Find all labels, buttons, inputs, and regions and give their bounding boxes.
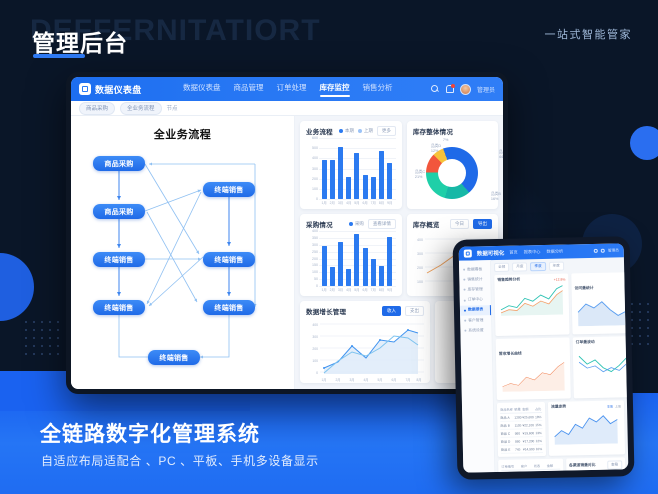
svg-text:100: 100 <box>312 359 318 363</box>
tablet-body: 数据看板销售统计库存管理订单中心数据报表客户管理系统设置 全部月度季度年度 销售… <box>459 257 628 472</box>
footer-title: 全链路数字化管理系统 <box>40 418 260 448</box>
table-row[interactable]: NO.10231张先生已完成¥1,280 <box>501 469 560 472</box>
tablet-card-visits: 访问量统计 <box>571 272 628 335</box>
tablet-card-traffic: 流量走势 本周 上周 <box>548 400 625 456</box>
bar-chart-plot: 60050040030020010001月2月3月4月5月6月7月8月9月 <box>306 138 396 208</box>
tablet-tab[interactable]: 全部 <box>494 263 509 272</box>
tablet-nav-analysis[interactable]: 数据分析 <box>546 249 563 255</box>
svg-text:400: 400 <box>417 238 423 242</box>
donut-label: 品类B16% <box>491 192 501 202</box>
more-button[interactable]: 更多 <box>377 126 396 136</box>
tablet-tab[interactable]: 年度 <box>549 262 564 271</box>
bar <box>322 160 327 199</box>
decor-dot-grid-left <box>22 318 64 356</box>
donut-label: 品类A44% <box>499 150 503 160</box>
bar <box>330 267 335 287</box>
line-chart-plot <box>497 283 566 316</box>
bar <box>371 259 376 286</box>
flow-node[interactable]: 终端销售 <box>148 350 200 365</box>
legend-income[interactable]: 收入 <box>382 306 401 316</box>
notification-badge <box>451 84 455 88</box>
chart-row-1: 业务流程 本期 上期 更多 60050040030020010001月2月3月4… <box>300 121 498 209</box>
line-chart-plot <box>499 359 568 392</box>
table-cell: 13% <box>535 429 542 437</box>
bar <box>596 471 601 472</box>
card-header: 库存整体情况 <box>413 126 492 136</box>
export-button[interactable]: 导出 <box>473 219 492 229</box>
bar <box>379 151 384 199</box>
tablet-device: 数据可视化 首页 报表中心 数据分析 管理员 数据看板销售统计库存管理订单中心数… <box>453 236 635 480</box>
column-header: 占比 <box>535 405 542 413</box>
nav-item-dashboard[interactable]: 数据仪表盘 <box>183 82 221 97</box>
bar <box>354 153 359 199</box>
tablet-card-orders: 订单量波动 <box>573 336 629 399</box>
bar <box>363 248 368 286</box>
footer-subtitle: 自适应布局适配合 、PC 、平板、手机多设备显示 <box>41 452 319 469</box>
svg-text:1月: 1月 <box>322 378 327 382</box>
legend-item: 本期 <box>339 128 354 134</box>
tablet-sidebar-label: 系统设置 <box>468 328 483 333</box>
dashboard-body: 全业务流程 <box>71 116 503 389</box>
tablet-sidebar[interactable]: 数据看板销售统计库存管理订单中心数据报表客户管理系统设置 <box>459 260 495 473</box>
card-header: 采购情况 采购 查看详情 <box>306 219 396 229</box>
bar-series <box>320 139 394 199</box>
table-cell: NO.10231 <box>501 470 521 472</box>
flow-diagram-title: 全业务流程 <box>71 126 294 142</box>
table-cell: 12% <box>536 437 543 445</box>
card-header: 数据增长管理 收入 支出 <box>306 306 424 316</box>
card-title: 采购情况 <box>306 219 333 229</box>
donut-label: 7% <box>443 138 449 143</box>
table-cell: 商品 E <box>501 445 515 453</box>
svg-text:200: 200 <box>312 347 318 351</box>
table-cell: 张先生 <box>521 470 534 472</box>
bar <box>354 234 359 286</box>
y-axis: 6005004003002001000 <box>306 138 319 199</box>
flow-node[interactable]: 终端销售 <box>93 252 145 267</box>
card-growth-line: 数据增长管理 收入 支出 <box>300 301 430 383</box>
legend-expense[interactable]: 支出 <box>405 306 424 316</box>
svg-text:3月: 3月 <box>350 378 355 382</box>
header-subtitle: 一站式智能管家 <box>545 26 633 42</box>
table-cell: 已完成 <box>534 469 547 472</box>
svg-text:300: 300 <box>417 252 423 256</box>
tablet-bottom-row: 订单编号客户状态金额NO.10231张先生已完成¥1,280NO.10232李女… <box>498 457 626 472</box>
tablet-nav-home[interactable]: 首页 <box>509 250 518 256</box>
donut-label: 品类D12% <box>431 144 441 154</box>
flow-diagram-panel: 全业务流程 <box>71 116 295 389</box>
bar <box>330 160 335 199</box>
svg-text:300: 300 <box>312 335 318 339</box>
today-button[interactable]: 今日 <box>450 219 469 229</box>
table-row[interactable]: 商品 E745¥14,90010% <box>501 445 543 454</box>
flow-node[interactable]: 终端销售 <box>203 182 255 197</box>
tablet-sidebar-label: 数据报表 <box>468 308 483 313</box>
svg-text:8月: 8月 <box>417 378 422 382</box>
tablet-tab[interactable]: 月度 <box>512 262 527 271</box>
table-cell: ¥25,600 <box>522 413 535 421</box>
username-label: 管理员 <box>477 85 495 94</box>
flow-node[interactable]: 商品采购 <box>93 156 145 171</box>
bar <box>379 266 384 286</box>
x-axis: 1月2月3月4月5月6月7月8月9月 <box>320 287 394 295</box>
tablet-username: 管理员 <box>608 248 619 253</box>
growth-badge: +12.8% <box>554 278 566 282</box>
card-header: 库存概览 今日 导出 <box>413 219 492 229</box>
subbar-note: 节点 <box>167 104 178 112</box>
dashboard-topbar-actions: 管理员 <box>431 84 495 95</box>
flow-node[interactable]: 终端销售 <box>203 252 255 267</box>
donut-chart: 品类A44%品类B16%品类C21%品类D12%7% <box>413 138 492 206</box>
search-icon[interactable] <box>594 249 598 253</box>
y-axis: 400350300250200150100500 <box>306 231 319 286</box>
nav-item-inventory[interactable]: 库存监控 <box>320 82 350 97</box>
x-axis: 1月2月3月4月5月6月7月8月9月 <box>320 200 394 208</box>
data-table: 订单编号客户状态金额NO.10231张先生已完成¥1,280NO.10232李女… <box>501 462 561 472</box>
laptop-device: 数据仪表盘 数据仪表盘 商品管理 订单处理 库存监控 销售分析 管理员 商品采 <box>66 72 508 394</box>
line-chart-plot: 400 300 200 100 0 <box>306 318 424 382</box>
svg-text:4月: 4月 <box>364 378 369 382</box>
card-business-flow-bar: 业务流程 本期 上期 更多 60050040030020010001月2月3月4… <box>300 121 402 209</box>
svg-text:2月: 2月 <box>336 378 341 382</box>
tablet-sidebar-item[interactable]: 数据看板 <box>459 264 490 275</box>
chart-legend: 本周 上周 <box>607 404 621 408</box>
card-title: 流量走势 <box>551 405 566 410</box>
legend-item: 上期 <box>358 128 373 134</box>
bell-icon[interactable] <box>445 85 454 94</box>
card-inventory-donut: 库存整体情况 品类A44%品类B16%品类C21%品类D12%7% <box>407 121 498 209</box>
tablet-sidebar-item[interactable]: 客户管理 <box>460 315 491 326</box>
area-chart-plot <box>551 409 622 444</box>
bar <box>338 242 343 286</box>
tablet-sidebar-item[interactable]: 数据报表 <box>460 305 491 316</box>
bar <box>322 246 327 286</box>
page-title: 管理后台 <box>32 24 128 58</box>
dashboard-topbar: 数据仪表盘 数据仪表盘 商品管理 订单处理 库存监控 销售分析 管理员 <box>71 77 503 101</box>
tablet-screen: 数据可视化 首页 报表中心 数据分析 管理员 数据看板销售统计库存管理订单中心数… <box>459 243 629 472</box>
svg-text:0: 0 <box>316 371 318 375</box>
legend-item: 采购 <box>349 221 364 227</box>
chart-legend: 收入 支出 <box>382 306 424 316</box>
tablet-nav-reports[interactable]: 报表中心 <box>524 249 541 255</box>
table-cell: ¥1,280 <box>547 469 560 472</box>
table-cell: ¥22,100 <box>522 421 535 429</box>
line-chart-plot <box>576 345 629 378</box>
bar-chart-plot: 4003503002502001501005001月2月3月4月5月6月7月8月… <box>306 231 396 295</box>
tablet-sidebar-item[interactable]: 系统设置 <box>460 325 491 336</box>
svg-text:200: 200 <box>417 266 423 270</box>
donut-ring <box>426 147 478 199</box>
tablet-tab[interactable]: 季度 <box>530 262 545 271</box>
dashboard-subbar: 商品采购 全业务流程 节点 <box>71 101 503 116</box>
card-header: 业务流程 本期 上期 更多 <box>306 126 396 136</box>
bar <box>363 175 368 199</box>
detail-button[interactable]: 查看详情 <box>368 219 396 229</box>
filter-chip-procurement[interactable]: 商品采购 <box>79 102 115 115</box>
chart-legend: 本期 上期 更多 <box>339 126 396 136</box>
tablet-sidebar-label: 客户管理 <box>468 318 483 323</box>
tablet-sidebar-label: 库存管理 <box>468 287 483 292</box>
search-icon[interactable] <box>431 85 439 93</box>
decor-circle-right <box>630 126 658 160</box>
tablet-nav[interactable]: 首页 报表中心 数据分析 <box>509 248 589 256</box>
table-cell: 860 <box>515 437 523 445</box>
table-cell: 980 <box>515 429 523 437</box>
chart-actions: 今日 导出 <box>450 219 492 229</box>
card-title: 库存整体情况 <box>413 126 453 136</box>
dashboard-screen: 数据仪表盘 数据仪表盘 商品管理 订单处理 库存监控 销售分析 管理员 商品采 <box>71 77 503 389</box>
table-cell: ¥14,900 <box>523 445 536 453</box>
bar-series <box>320 232 394 286</box>
table-cell: 18% <box>535 413 542 421</box>
nav-item-orders[interactable]: 订单处理 <box>277 82 307 97</box>
table-cell: 1280 <box>514 413 522 421</box>
bar <box>387 237 392 286</box>
bar <box>346 269 351 286</box>
nav-item-sales[interactable]: 销售分析 <box>363 82 393 97</box>
tablet-main: 全部月度季度年度 销售趋势分析 +12.8% <box>491 257 628 472</box>
svg-text:7月: 7月 <box>406 378 411 382</box>
donut-label: 品类C21% <box>415 170 425 180</box>
svg-text:100: 100 <box>417 280 423 284</box>
table-cell: 745 <box>515 445 523 453</box>
dashboard-logo-icon <box>79 83 91 95</box>
title-underline <box>33 54 85 58</box>
brand: 数据仪表盘 <box>79 83 183 96</box>
chart-legend: 采购 查看详情 <box>349 219 396 229</box>
card-title: 营收增长曲线 <box>499 351 522 355</box>
tablet-brand-name: 数据可视化 <box>477 249 505 258</box>
table-cell: ¥19,600 <box>523 429 536 437</box>
view-button[interactable]: 查看 <box>607 460 622 469</box>
bar-chart-plot <box>579 469 623 472</box>
tablet-table-b: 订单编号客户状态金额NO.10231张先生已完成¥1,280NO.10232李女… <box>498 459 564 472</box>
filter-chip-full-flow[interactable]: 全业务流程 <box>120 102 162 115</box>
card-title: 访问量统计 <box>575 286 594 290</box>
tablet-tab-bar[interactable]: 全部月度季度年度 <box>494 260 621 272</box>
svg-text:400: 400 <box>312 323 318 327</box>
bar <box>387 163 392 199</box>
area-chart-plot <box>575 293 629 326</box>
tablet-logo-icon <box>464 249 472 257</box>
card-procurement-bar: 采购情况 采购 查看详情 4003503002502001501005001月2… <box>300 214 402 296</box>
card-title: 各渠道销量对比 <box>569 462 596 468</box>
tablet-sidebar-item[interactable]: 销售统计 <box>459 274 490 285</box>
tablet-card-sales-trend: 销售趋势分析 +12.8% <box>494 273 569 336</box>
tablet-sidebar-item[interactable]: 库存管理 <box>459 284 490 295</box>
card-title: 库存概览 <box>413 219 440 229</box>
tablet-card-channel-bars: 各渠道销量对比 查看 100 80 60 40 20 0 <box>566 457 627 472</box>
card-title: 订单量波动 <box>576 340 595 345</box>
nav-item-products[interactable]: 商品管理 <box>234 82 264 97</box>
tablet-table-a: 商品名称销量金额占比商品 A1280¥25,60018%商品 B1105¥22,… <box>497 402 546 457</box>
bar <box>371 177 376 199</box>
svg-text:6月: 6月 <box>392 378 397 382</box>
page-root: DEFFERNITATIORT 管理后台 一站式智能管家 数据仪表盘 数据仪表盘… <box>0 0 658 494</box>
bar <box>338 147 343 199</box>
flow-node[interactable]: 终端销售 <box>203 300 255 315</box>
flow-node[interactable]: 终端销售 <box>93 300 145 315</box>
card-title: 数据增长管理 <box>306 306 346 316</box>
flow-node[interactable]: 商品采购 <box>93 204 145 219</box>
tablet-sidebar-label: 订单中心 <box>468 297 483 302</box>
tablet-sidebar-label: 销售统计 <box>467 277 482 282</box>
svg-text:5月: 5月 <box>378 378 383 382</box>
tablet-card-grid: 销售趋势分析 +12.8% 访问量统计 <box>494 272 624 400</box>
tablet-topbar-actions: 管理员 <box>594 248 619 254</box>
tablet-sidebar-item[interactable]: 订单中心 <box>460 295 491 306</box>
card-title: 业务流程 <box>306 126 333 136</box>
bar-group <box>596 471 606 472</box>
dashboard-nav[interactable]: 数据仪表盘 商品管理 订单处理 库存监控 销售分析 <box>183 82 431 97</box>
data-table: 商品名称销量金额占比商品 A1280¥25,60018%商品 B1105¥22,… <box>500 405 543 454</box>
bar <box>346 177 351 199</box>
tablet-card-revenue: 营收增长曲线 <box>496 337 571 400</box>
tablet-mid-row: 商品名称销量金额占比商品 A1280¥25,60018%商品 B1105¥22,… <box>497 400 625 457</box>
table-cell: 1105 <box>514 421 522 429</box>
table-cell: 15% <box>535 421 542 429</box>
bell-icon[interactable] <box>601 249 605 253</box>
page-header: DEFFERNITATIORT 管理后台 一站式智能管家 <box>0 0 658 72</box>
brand-name: 数据仪表盘 <box>95 83 142 96</box>
card-title: 销售趋势分析 <box>497 277 520 282</box>
tablet-sidebar-label: 数据看板 <box>467 267 482 272</box>
avatar[interactable] <box>460 84 471 95</box>
table-cell: 10% <box>536 445 543 453</box>
